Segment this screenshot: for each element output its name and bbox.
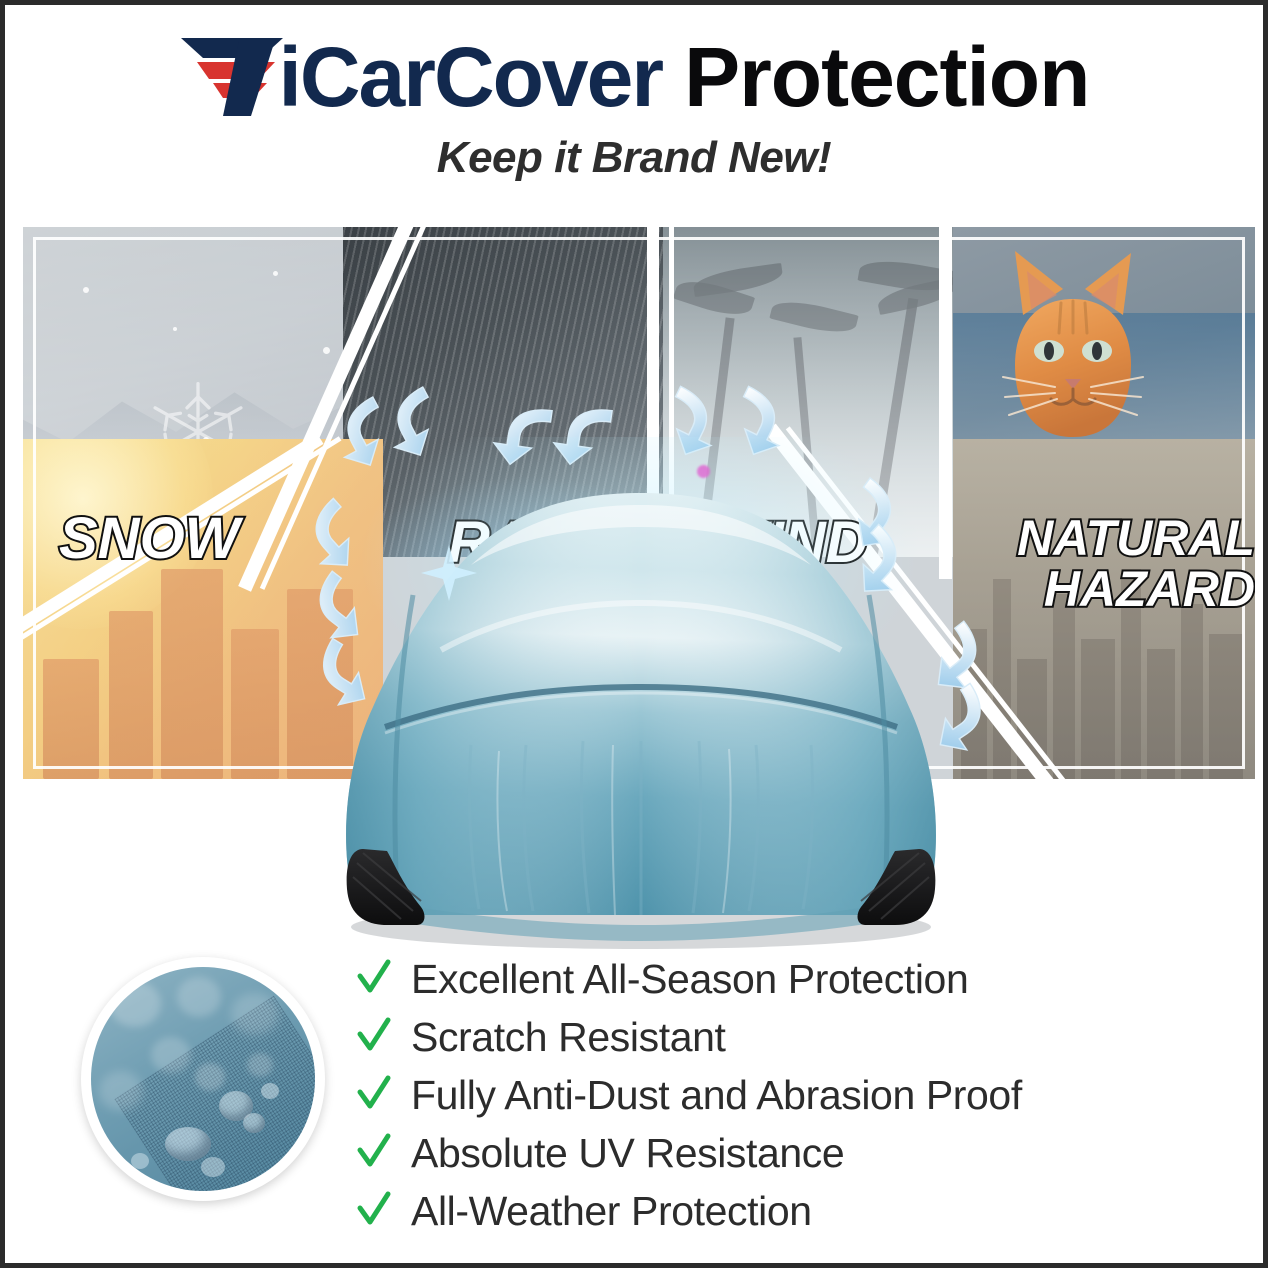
feature-list: Excellent All-Season Protection Scratch … (357, 955, 1197, 1245)
feature-item: Scratch Resistant (357, 1013, 1197, 1071)
icarcover-wing-logo-icon (179, 34, 287, 120)
feature-item: All-Weather Protection (357, 1187, 1197, 1245)
brand-name-primary: iCarCover (279, 34, 663, 120)
green-checkmark-icon (357, 1017, 391, 1055)
feature-label: Fully Anti-Dust and Abrasion Proof (411, 1075, 1022, 1116)
label-natural-hazard: NATURAL HAZARD (1017, 513, 1255, 615)
feature-item: Absolute UV Resistance (357, 1129, 1197, 1187)
green-checkmark-icon (357, 1191, 391, 1229)
green-checkmark-icon (357, 1133, 391, 1171)
fabric-swatch-circle (81, 957, 325, 1201)
feature-label: Excellent All-Season Protection (411, 959, 968, 1000)
green-checkmark-icon (357, 1075, 391, 1113)
green-checkmark-icon (357, 959, 391, 997)
feature-label: Absolute UV Resistance (411, 1133, 844, 1174)
feature-item: Fully Anti-Dust and Abrasion Proof (357, 1071, 1197, 1129)
car-with-cover-image (321, 445, 961, 957)
header: iCarCover Protection Keep it Brand New! (5, 27, 1263, 183)
brand-name-secondary: Protection (684, 34, 1089, 120)
fabric-swatch-image (91, 967, 315, 1191)
feature-label: All-Weather Protection (411, 1191, 812, 1232)
feature-label: Scratch Resistant (411, 1017, 726, 1058)
product-infographic: iCarCover Protection Keep it Brand New! (0, 0, 1268, 1268)
feature-item: Excellent All-Season Protection (357, 955, 1197, 1013)
cat-icon (989, 241, 1157, 453)
tagline: Keep it Brand New! (437, 133, 831, 183)
brand-lockup: iCarCover Protection (179, 27, 1090, 127)
label-snow: SNOW (59, 509, 239, 568)
car-cover-illustration (321, 445, 961, 957)
